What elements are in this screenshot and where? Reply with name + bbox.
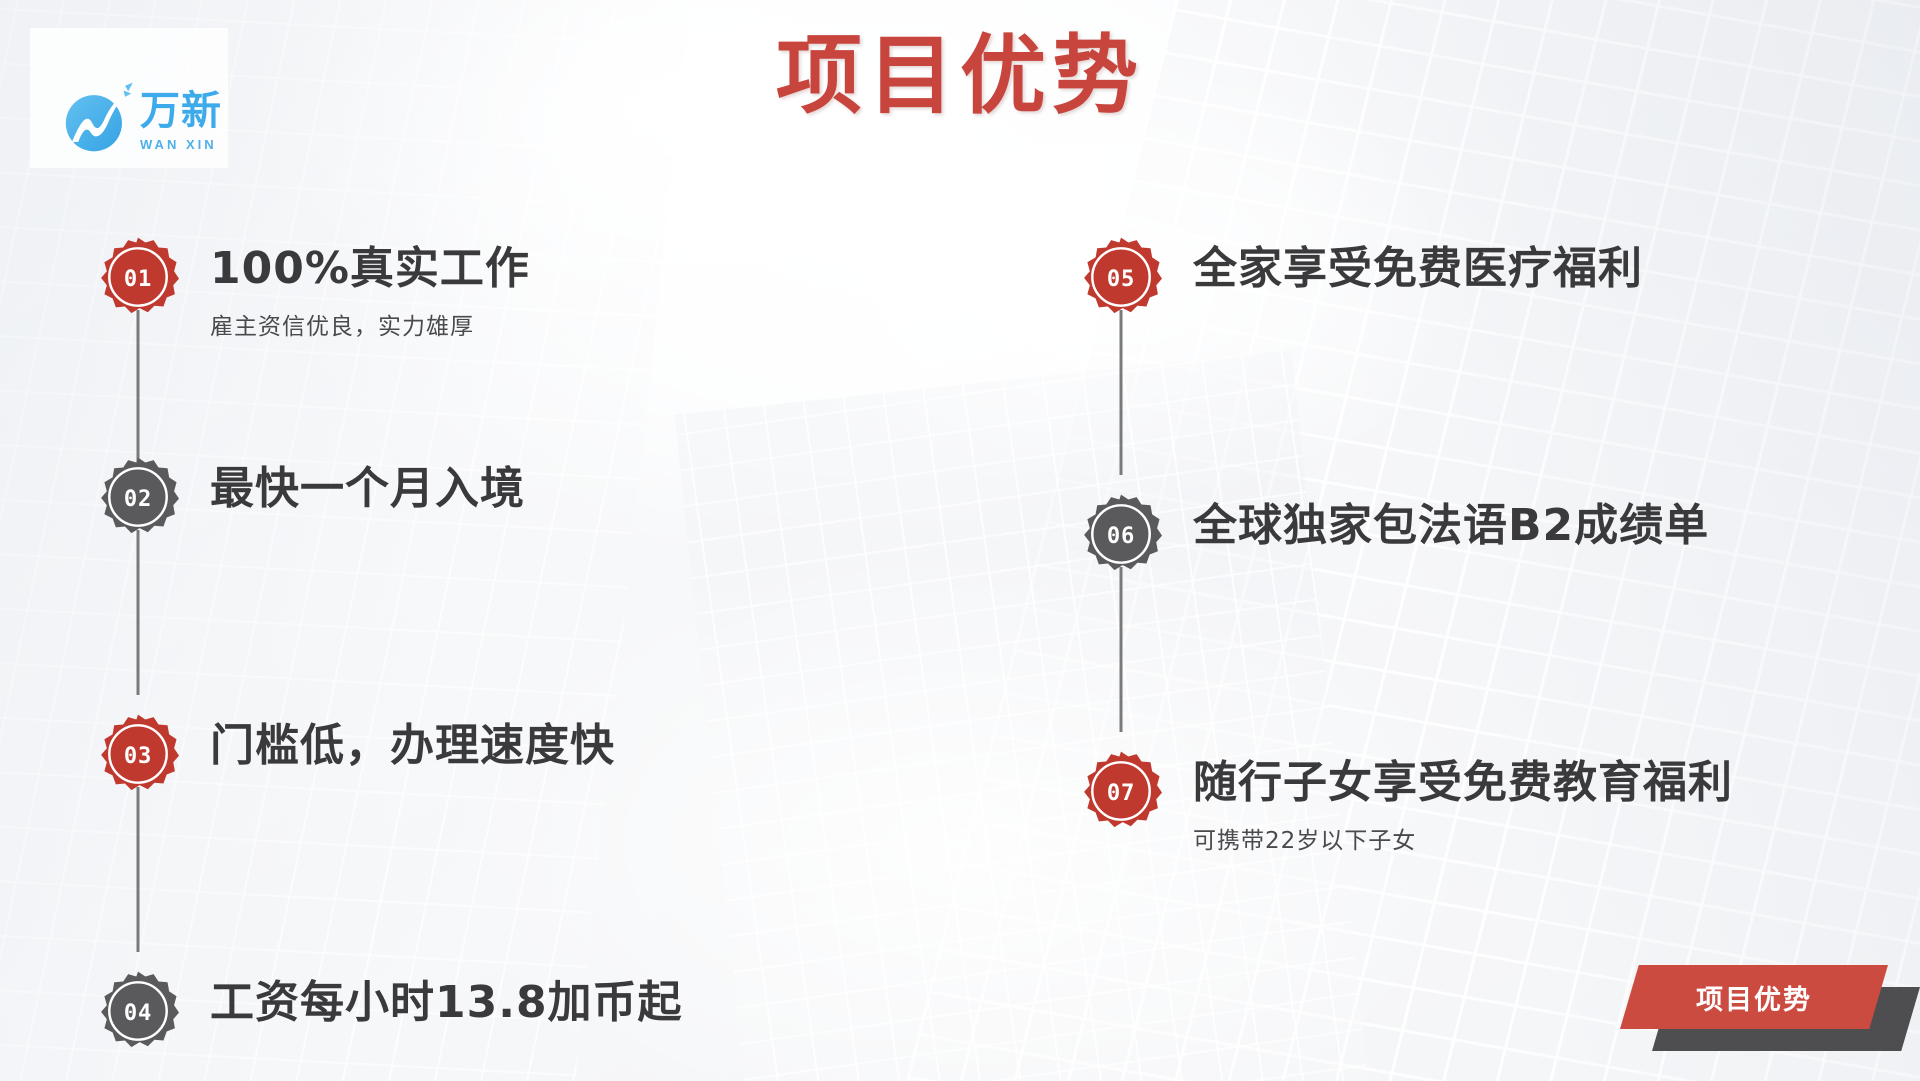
- badge-cell-02: 02: [92, 456, 184, 538]
- number-badge-red-icon: 03: [97, 713, 179, 795]
- advantage-subtitle-01: 雇主资信优良，实力雄厚: [210, 307, 530, 341]
- advantage-item-05: 05 全家享受免费医疗福利: [1075, 236, 1865, 318]
- advantage-text-07: 随行子女享受免费教育福利 可携带22岁以下子女: [1167, 750, 1733, 855]
- advantage-item-06: 06 全球独家包法语B2成绩单: [1075, 493, 1865, 575]
- advantage-title-02: 最快一个月入境: [210, 464, 525, 513]
- connector-line-05: [1120, 310, 1123, 475]
- corner-banner-front: 项目优势: [1620, 965, 1888, 1029]
- badge-number-01: 01: [124, 266, 152, 292]
- slide-root: 万新 WAN XIN 项目优势 01 100%真实工作 雇主资信优良，实力雄厚: [0, 0, 1920, 1081]
- row-gap-1: [92, 341, 832, 456]
- advantage-text-06: 全球独家包法语B2成绩单: [1167, 493, 1709, 550]
- badge-number-07: 07: [1107, 780, 1135, 806]
- row-gap-6: [1075, 575, 1865, 750]
- badge-cell-03: 03: [92, 713, 184, 795]
- advantage-title-07: 随行子女享受免费教育福利: [1193, 758, 1733, 807]
- advantage-text-04: 工资每小时13.8加币起: [184, 970, 683, 1027]
- advantage-title-01: 100%真实工作: [210, 244, 530, 293]
- badge-cell-06: 06: [1075, 493, 1167, 575]
- number-badge-gray-icon: 02: [97, 456, 179, 538]
- number-badge-gray-icon: 06: [1080, 493, 1162, 575]
- advantage-item-02: 02 最快一个月入境: [92, 456, 832, 538]
- advantage-title-04: 工资每小时13.8加币起: [210, 978, 683, 1027]
- advantage-text-05: 全家享受免费医疗福利: [1167, 236, 1643, 293]
- connector-line-03: [137, 787, 140, 952]
- badge-number-05: 05: [1107, 266, 1135, 292]
- advantage-title-06: 全球独家包法语B2成绩单: [1193, 501, 1709, 550]
- badge-number-04: 04: [124, 1000, 152, 1026]
- advantage-title-05: 全家享受免费医疗福利: [1193, 244, 1643, 293]
- advantage-text-01: 100%真实工作 雇主资信优良，实力雄厚: [184, 236, 530, 341]
- badge-cell-05: 05: [1075, 236, 1167, 318]
- corner-banner-label: 项目优势: [1696, 978, 1812, 1017]
- advantage-text-03: 门槛低，办理速度快: [184, 713, 615, 770]
- advantage-item-03: 03 门槛低，办理速度快: [92, 713, 832, 795]
- advantages-column-right: 05 全家享受免费医疗福利 06 全球独家包法语B2成绩单: [1075, 236, 1865, 855]
- advantage-item-07: 07 随行子女享受免费教育福利 可携带22岁以下子女: [1075, 750, 1865, 855]
- logo-english-name: WAN XIN: [140, 137, 222, 152]
- connector-line-02: [137, 530, 140, 695]
- badge-number-06: 06: [1107, 523, 1135, 549]
- row-gap-3: [92, 795, 832, 970]
- badge-cell-07: 07: [1075, 750, 1167, 832]
- advantages-column-left: 01 100%真实工作 雇主资信优良，实力雄厚 02 最快一个月入境: [92, 236, 832, 1052]
- advantage-item-01: 01 100%真实工作 雇主资信优良，实力雄厚: [92, 236, 832, 341]
- badge-number-02: 02: [124, 486, 152, 512]
- row-gap-2: [92, 538, 832, 713]
- connector-line-06: [1120, 567, 1123, 732]
- advantage-subtitle-07: 可携带22岁以下子女: [1193, 821, 1733, 855]
- number-badge-red-icon: 05: [1080, 236, 1162, 318]
- advantage-title-03: 门槛低，办理速度快: [210, 721, 615, 770]
- badge-cell-04: 04: [92, 970, 184, 1052]
- number-badge-red-icon: 07: [1080, 750, 1162, 832]
- number-badge-red-icon: 01: [97, 236, 179, 318]
- row-gap-5: [1075, 318, 1865, 493]
- number-badge-gray-icon: 04: [97, 970, 179, 1052]
- advantage-text-02: 最快一个月入境: [184, 456, 525, 513]
- advantage-item-04: 04 工资每小时13.8加币起: [92, 970, 832, 1052]
- badge-number-03: 03: [124, 743, 152, 769]
- page-title: 项目优势: [0, 30, 1920, 123]
- badge-cell-01: 01: [92, 236, 184, 318]
- corner-banner: 项目优势: [1620, 959, 1920, 1051]
